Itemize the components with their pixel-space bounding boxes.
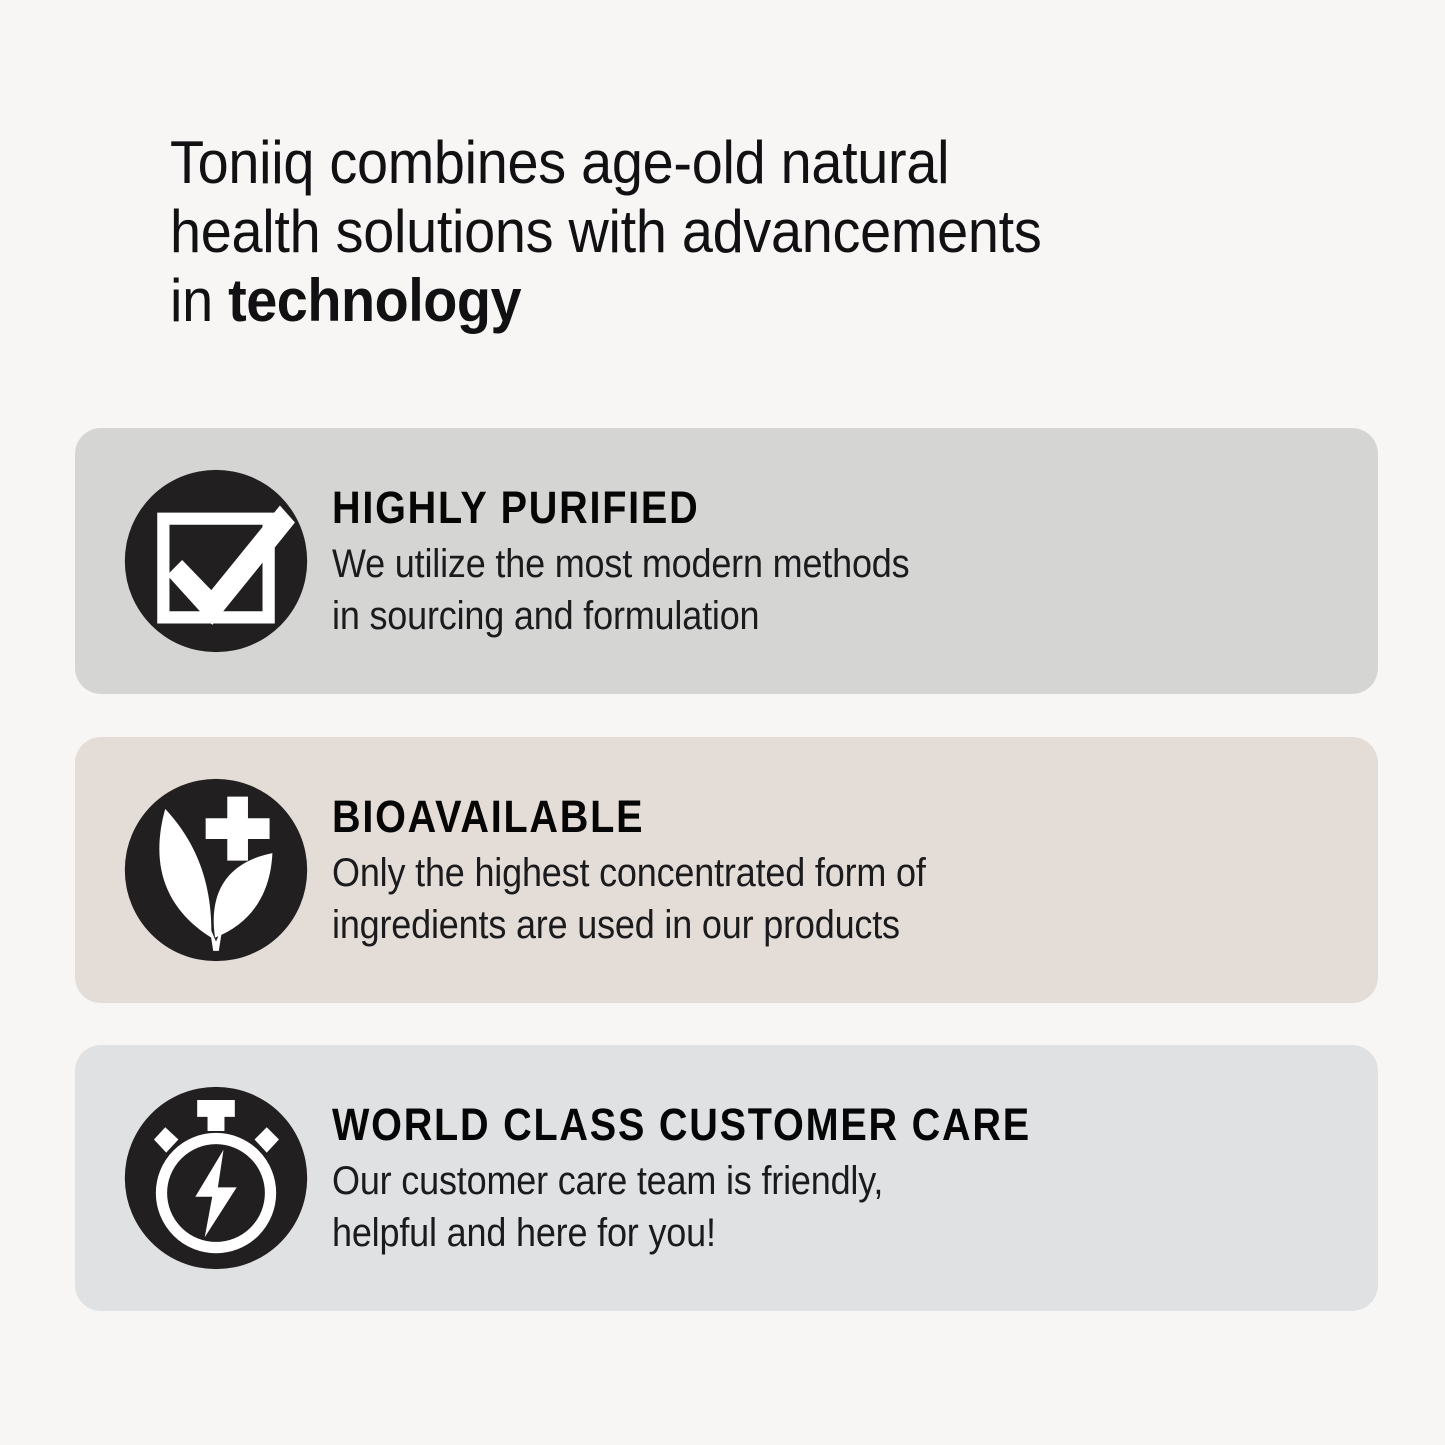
feature-card-description: We utilize the most modern methods in so… [332, 538, 1237, 642]
feature-card-description: Only the highest concentrated form of in… [332, 847, 1237, 951]
feature-card-text: HIGHLY PURIFIED We utilize the most mode… [332, 482, 1378, 642]
feature-card-text: BIOAVAILABLE Only the highest concentrat… [332, 791, 1378, 951]
stopwatch-bolt-icon [122, 1084, 310, 1272]
headline-emphasis-technology: technology [228, 267, 521, 334]
feature-card-description-line-1: We utilize the most modern methods [332, 538, 1237, 590]
feature-card-description-line-1: Our customer care team is friendly, [332, 1155, 1237, 1207]
feature-card-description-line-2: ingredients are used in our products [332, 899, 1237, 951]
feature-card-title: BIOAVAILABLE [332, 791, 1217, 843]
infographic-page: Toniiq combines age-old natural health s… [0, 0, 1445, 1445]
feature-card-world-class-customer-care: WORLD CLASS CUSTOMER CARE Our customer c… [75, 1045, 1378, 1311]
feature-card-title: HIGHLY PURIFIED [332, 482, 1217, 534]
checkbox-check-icon [122, 467, 310, 655]
page-headline: Toniiq combines age-old natural health s… [170, 128, 1128, 335]
feature-card-description-line-2: helpful and here for you! [332, 1207, 1237, 1259]
feature-card-title: WORLD CLASS CUSTOMER CARE [332, 1099, 1217, 1151]
feature-card-description: Our customer care team is friendly, help… [332, 1155, 1237, 1259]
feature-card-description-line-2: in sourcing and formulation [332, 590, 1237, 642]
headline-line-3: in technology [170, 266, 1128, 335]
feature-card-description-line-1: Only the highest concentrated form of [332, 847, 1237, 899]
feature-card-bioavailable: BIOAVAILABLE Only the highest concentrat… [75, 737, 1378, 1003]
headline-line-3-prefix: in [170, 267, 228, 334]
headline-line-1: Toniiq combines age-old natural [170, 128, 1128, 197]
headline-line-2: health solutions with advancements [170, 197, 1128, 266]
feature-card-text: WORLD CLASS CUSTOMER CARE Our customer c… [332, 1099, 1378, 1259]
leaf-plus-icon [122, 776, 310, 964]
feature-card-highly-purified: HIGHLY PURIFIED We utilize the most mode… [75, 428, 1378, 694]
